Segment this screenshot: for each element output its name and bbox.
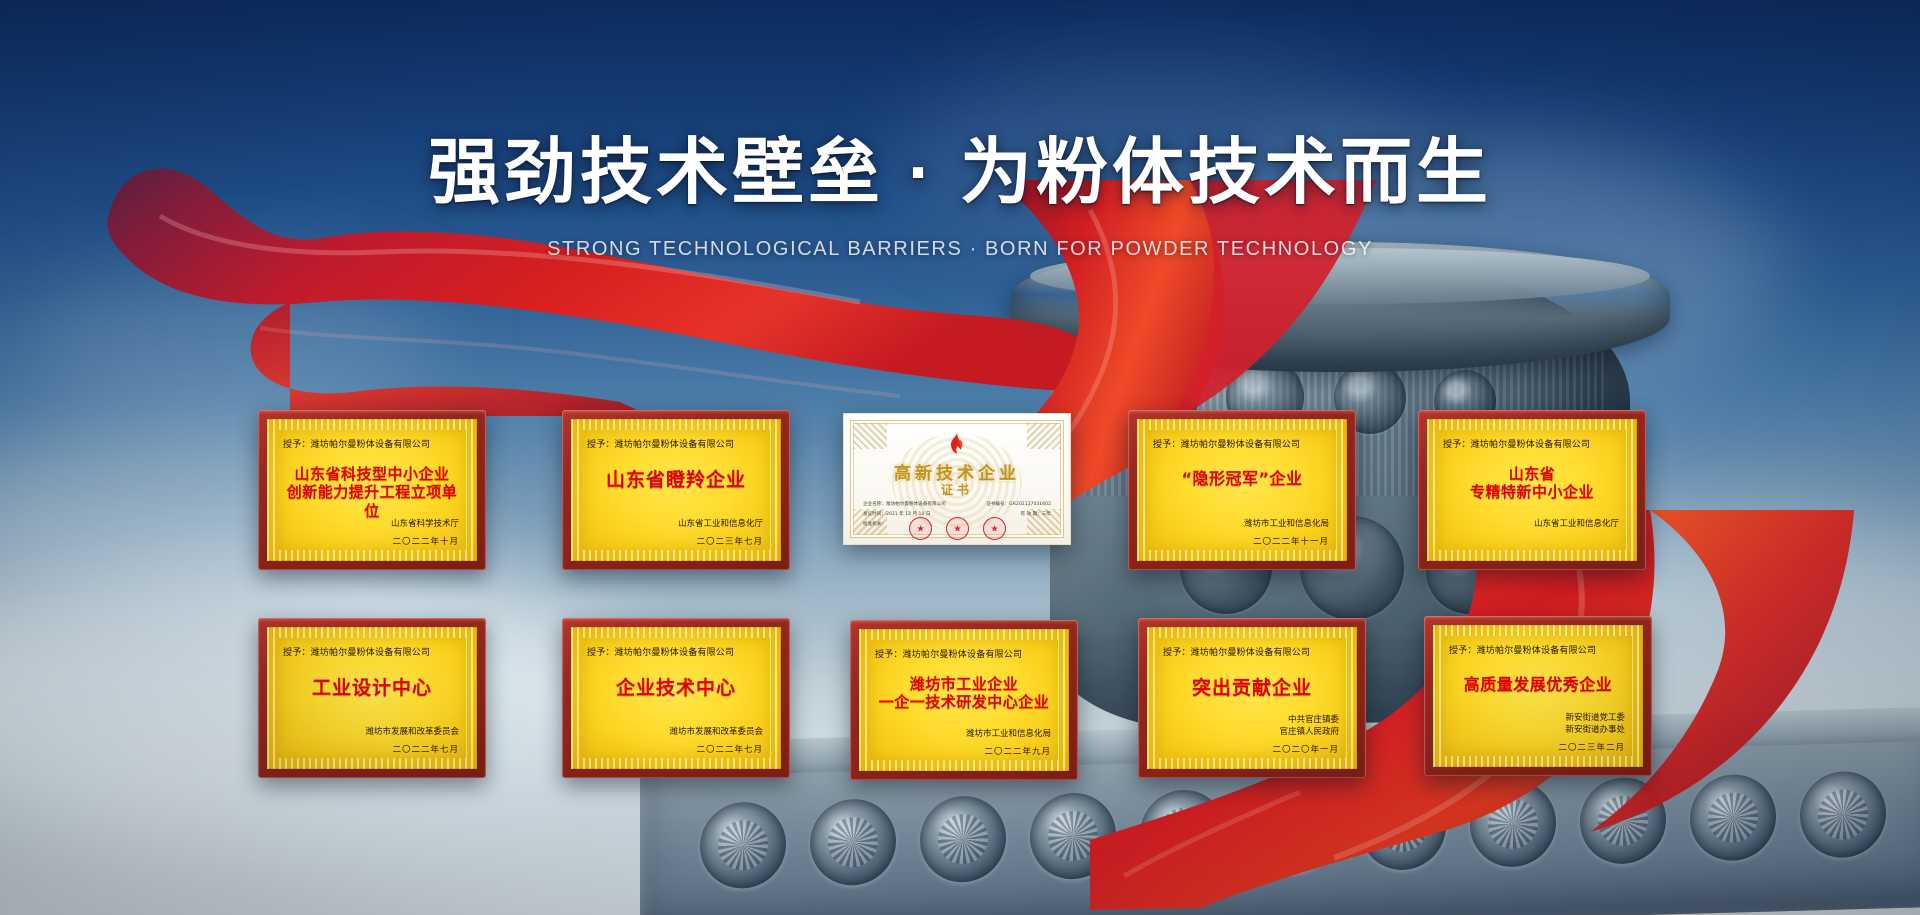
- plaque-issuer-line: 官庄镇人民政府: [1279, 726, 1339, 739]
- plaque-yiqi-yijishu-yanfa-zhongxin[interactable]: 授予：潍坊帕尔曼粉体设备有限公司 潍坊市工业企业 一企一技术研发中心企业 潍坊市…: [850, 620, 1078, 780]
- plaque-date: 二〇二三年二月: [1558, 741, 1625, 753]
- plaque-award-to: 授予：潍坊帕尔曼粉体设备有限公司: [1449, 643, 1627, 656]
- plaque-award-to: 授予：潍坊帕尔曼粉体设备有限公司: [1163, 645, 1341, 658]
- plaque-gaozhiliang-fazhan[interactable]: 授予：潍坊帕尔曼粉体设备有限公司 高质量发展优秀企业 新安街道党工委 新安街道办…: [1424, 616, 1652, 776]
- plaque-issuer: 山东省科学技术厅: [391, 518, 459, 531]
- headline-block: 强劲技术壁垒 · 为粉体技术而生 STRONG TECHNOLOGICAL BA…: [0, 132, 1920, 261]
- plaque-date: 二〇二二年七月: [392, 743, 459, 755]
- plaque-title-line: 创新能力提升工程立项单位: [281, 483, 463, 520]
- plaque-issuer: 潍坊市工业和信息化局: [1244, 518, 1329, 531]
- plaque-title-line: 高质量发展优秀企业: [1447, 675, 1629, 695]
- plaque-issuer-line: 中共官庄镇委: [1279, 714, 1339, 727]
- page-subtitle: STRONG TECHNOLOGICAL BARRIERS · BORN FOR…: [0, 238, 1920, 261]
- plaque-zhuanjing-texin[interactable]: 授予：潍坊帕尔曼粉体设备有限公司 山东省 专精特新中小企业 山东省工业和信息化厅: [1418, 410, 1646, 570]
- red-flame-logo-icon: [944, 432, 970, 458]
- plaque-issuer: 中共官庄镇委 官庄镇人民政府: [1279, 714, 1339, 740]
- plaque-award-to: 授予：潍坊帕尔曼粉体设备有限公司: [1443, 437, 1621, 450]
- banner-stage: 强劲技术壁垒 · 为粉体技术而生 STRONG TECHNOLOGICAL BA…: [0, 0, 1920, 915]
- plaque-issuer: 新安街道党工委 新安街道办事处: [1565, 712, 1625, 738]
- certificate-field: 证书编号：GR202137031602: [986, 501, 1051, 507]
- red-seal-stamp-icon: [909, 517, 932, 540]
- plaque-issuer: 山东省工业和信息化厅: [678, 518, 763, 531]
- plaque-award-to: 授予：潍坊帕尔曼粉体设备有限公司: [283, 437, 461, 450]
- plaque-kejixing-zhongxiao-qiye[interactable]: 授予：潍坊帕尔曼粉体设备有限公司 山东省科技型中小企业 创新能力提升工程立项单位…: [258, 410, 486, 570]
- plaque-award-to: 授予：潍坊帕尔曼粉体设备有限公司: [1153, 437, 1331, 450]
- plaque-title: 企业技术中心: [585, 677, 767, 700]
- plaque-title: 山东省科技型中小企业 创新能力提升工程立项单位: [281, 465, 463, 520]
- plaque-award-to: 授予：潍坊帕尔曼粉体设备有限公司: [587, 645, 765, 658]
- plaque-face: 授予：潍坊帕尔曼粉体设备有限公司 工业设计中心 潍坊市发展和改革委员会 二〇二二…: [267, 627, 477, 769]
- plaque-issuer-line: 山东省科学技术厅: [391, 518, 459, 531]
- plaque-date: 二〇二二年七月: [696, 743, 763, 755]
- plaque-qiye-jishu-zhongxin[interactable]: 授予：潍坊帕尔曼粉体设备有限公司 企业技术中心 潍坊市发展和改革委员会 二〇二二…: [562, 618, 790, 778]
- plaque-title-line: 山东省科技型中小企业: [281, 465, 463, 483]
- plaque-title: 潍坊市工业企业 一企一技术研发中心企业: [873, 675, 1055, 712]
- red-seal-stamp-icon: [946, 517, 969, 540]
- plaque-issuer: 潍坊市工业和信息化局: [966, 728, 1051, 741]
- plaque-issuer-line: 山东省工业和信息化厅: [678, 518, 763, 531]
- plaque-face: 授予：潍坊帕尔曼粉体设备有限公司 突出贡献企业 中共官庄镇委 官庄镇人民政府 二…: [1147, 627, 1357, 769]
- plaque-date: 二〇二〇年一月: [1272, 743, 1339, 755]
- plaque-issuer-line: 新安街道党工委: [1565, 712, 1625, 725]
- high-tech-enterprise-certificate[interactable]: 高新技术企业 证书 企业名称：潍坊帕尔曼粉体设备有限公司 证书编号：GR2021…: [843, 413, 1071, 545]
- plaque-date: 二〇二二年九月: [984, 745, 1051, 757]
- plaque-face: 授予：潍坊帕尔曼粉体设备有限公司 山东省 专精特新中小企业 山东省工业和信息化厅: [1427, 419, 1637, 561]
- plaque-gongye-sheji-zhongxin[interactable]: 授予：潍坊帕尔曼粉体设备有限公司 工业设计中心 潍坊市发展和改革委员会 二〇二二…: [258, 618, 486, 778]
- plaque-award-to: 授予：潍坊帕尔曼粉体设备有限公司: [875, 647, 1053, 660]
- plaque-date: 二〇二二年十一月: [1253, 535, 1329, 547]
- plaque-title-line: 突出贡献企业: [1161, 677, 1343, 700]
- certificate-field: 批准机关：: [863, 521, 886, 527]
- certificate-corner-ornament-icon: [853, 423, 887, 449]
- plaque-title-line: 山东省: [1441, 465, 1623, 483]
- plaque-face: 授予：潍坊帕尔曼粉体设备有限公司 企业技术中心 潍坊市发展和改革委员会 二〇二二…: [571, 627, 781, 769]
- plaque-dengling-qiye[interactable]: 授予：潍坊帕尔曼粉体设备有限公司 山东省瞪羚企业 山东省工业和信息化厅 二〇二三…: [562, 410, 790, 570]
- plaque-title-line: 一企一技术研发中心企业: [873, 693, 1055, 711]
- plaque-title-line: “隐形冠军”企业: [1151, 469, 1333, 489]
- plaque-issuer-line: 潍坊市工业和信息化局: [966, 728, 1051, 741]
- plaque-title: 山东省 专精特新中小企业: [1441, 465, 1623, 502]
- plaque-title-line: 潍坊市工业企业: [873, 675, 1055, 693]
- certificate-field: 有 效 期：三年: [1021, 511, 1051, 517]
- plaque-issuer: 潍坊市发展和改革委员会: [365, 726, 459, 739]
- plaque-date: 二〇二三年七月: [696, 535, 763, 547]
- plaque-title-line: 专精特新中小企业: [1441, 483, 1623, 501]
- plaque-issuer: 山东省工业和信息化厅: [1534, 518, 1619, 531]
- plaque-issuer-line: 新安街道办事处: [1565, 724, 1625, 737]
- certificate-corner-ornament-icon: [1027, 423, 1061, 449]
- plaque-yinxing-guanjun-qiye[interactable]: 授予：潍坊帕尔曼粉体设备有限公司 “隐形冠军”企业 潍坊市工业和信息化局 二〇二…: [1128, 410, 1356, 570]
- plaque-date: 二〇二二年十月: [392, 535, 459, 547]
- plaque-title: 突出贡献企业: [1161, 677, 1343, 700]
- plaque-face: 授予：潍坊帕尔曼粉体设备有限公司 山东省科技型中小企业 创新能力提升工程立项单位…: [267, 419, 477, 561]
- plaque-title-line: 企业技术中心: [585, 677, 767, 700]
- certificate-field: 企业名称：潍坊帕尔曼粉体设备有限公司: [863, 501, 946, 507]
- plaque-title: 高质量发展优秀企业: [1447, 675, 1629, 695]
- plaque-award-to: 授予：潍坊帕尔曼粉体设备有限公司: [587, 437, 765, 450]
- page-title: 强劲技术壁垒 · 为粉体技术而生: [0, 132, 1920, 216]
- plaque-face: 授予：潍坊帕尔曼粉体设备有限公司 “隐形冠军”企业 潍坊市工业和信息化局 二〇二…: [1137, 419, 1347, 561]
- plaque-issuer-line: 潍坊市发展和改革委员会: [669, 726, 763, 739]
- plaque-face: 授予：潍坊帕尔曼粉体设备有限公司 潍坊市工业企业 一企一技术研发中心企业 潍坊市…: [859, 629, 1069, 771]
- plaque-face: 授予：潍坊帕尔曼粉体设备有限公司 山东省瞪羚企业 山东省工业和信息化厅 二〇二三…: [571, 419, 781, 561]
- plaque-issuer-line: 潍坊市发展和改革委员会: [365, 726, 459, 739]
- red-seal-stamp-icon: [983, 517, 1006, 540]
- plaque-issuer-line: 潍坊市工业和信息化局: [1244, 518, 1329, 531]
- plaque-issuer: 潍坊市发展和改革委员会: [669, 726, 763, 739]
- plaque-title: “隐形冠军”企业: [1151, 469, 1333, 489]
- plaque-tuchu-gongxian-qiye[interactable]: 授予：潍坊帕尔曼粉体设备有限公司 突出贡献企业 中共官庄镇委 官庄镇人民政府 二…: [1138, 618, 1366, 778]
- certificate-subtitle: 证书: [843, 481, 1071, 498]
- plaque-title: 工业设计中心: [281, 677, 463, 700]
- plaque-award-to: 授予：潍坊帕尔曼粉体设备有限公司: [283, 645, 461, 658]
- plaque-title-line: 工业设计中心: [281, 677, 463, 700]
- plaque-title: 山东省瞪羚企业: [585, 469, 767, 492]
- plaque-issuer-line: 山东省工业和信息化厅: [1534, 518, 1619, 531]
- plaque-title-line: 山东省瞪羚企业: [585, 469, 767, 492]
- plaque-face: 授予：潍坊帕尔曼粉体设备有限公司 高质量发展优秀企业 新安街道党工委 新安街道办…: [1433, 625, 1643, 767]
